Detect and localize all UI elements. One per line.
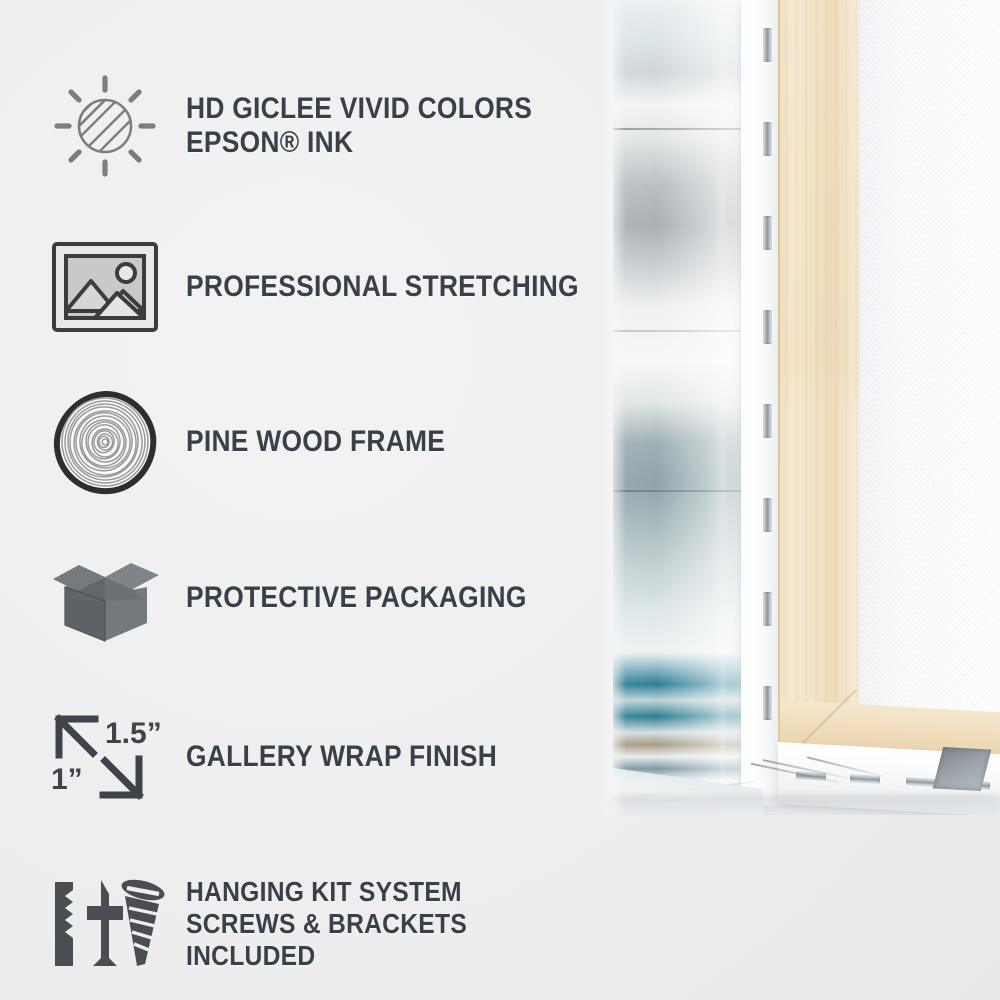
feature-row-hd-giclee: HD GICLEE VIVID COLORS EPSON® INK bbox=[46, 50, 640, 203]
feature-label: PROTECTIVE PACKAGING bbox=[186, 581, 527, 615]
staple bbox=[763, 686, 772, 720]
staple bbox=[763, 404, 772, 438]
staple bbox=[763, 498, 772, 532]
feature-label: PINE WOOD FRAME bbox=[186, 425, 445, 459]
feature-label: HANGING KIT SYSTEM SCREWS & BRACKETS INC… bbox=[186, 876, 586, 972]
depth-width-label: 1.5” bbox=[105, 717, 162, 750]
staple bbox=[763, 216, 772, 250]
staple bbox=[763, 122, 772, 156]
white-gallery-wrap bbox=[741, 0, 778, 806]
open-box-icon bbox=[46, 538, 164, 658]
feature-row-professional-stretching: PROFESSIONAL STRETCHING bbox=[46, 211, 640, 364]
feature-label: HD GICLEE VIVID COLORS EPSON® INK bbox=[186, 92, 532, 160]
pine-wood-grain bbox=[778, 0, 860, 760]
feature-row-protective-packaging: PROTECTIVE PACKAGING bbox=[46, 522, 640, 675]
staple bbox=[763, 310, 772, 344]
canvas-back-texture bbox=[860, 0, 1000, 760]
staple bbox=[763, 28, 772, 62]
hanging-hardware-icon bbox=[46, 864, 164, 984]
feature-row-hanging-kit: HANGING KIT SYSTEM SCREWS & BRACKETS INC… bbox=[46, 847, 640, 1000]
photo-drop-shadow bbox=[600, 795, 1000, 815]
depth-depth-label: 1” bbox=[51, 763, 83, 796]
depth-dimensions-icon: 1.5” 1” bbox=[46, 697, 164, 817]
feature-list: HD GICLEE VIVID COLORS EPSON® INK PROFES… bbox=[0, 0, 640, 1000]
staple bbox=[906, 777, 936, 787]
framed-picture-icon bbox=[46, 227, 164, 347]
brightness-sun-icon bbox=[46, 66, 164, 186]
feature-label: PROFESSIONAL STRETCHING bbox=[186, 270, 579, 304]
feature-label: GALLERY WRAP FINISH bbox=[186, 740, 497, 774]
feature-row-pine-wood-frame: PINE WOOD FRAME bbox=[46, 365, 640, 518]
pine-bar-seam bbox=[778, 0, 780, 760]
canvas-corner-photograph bbox=[600, 0, 1000, 815]
staple bbox=[763, 592, 772, 626]
feature-row-gallery-wrap-finish: 1.5” 1” GALLERY WRAP FINISH bbox=[46, 681, 640, 834]
wood-rings-icon bbox=[46, 382, 164, 502]
